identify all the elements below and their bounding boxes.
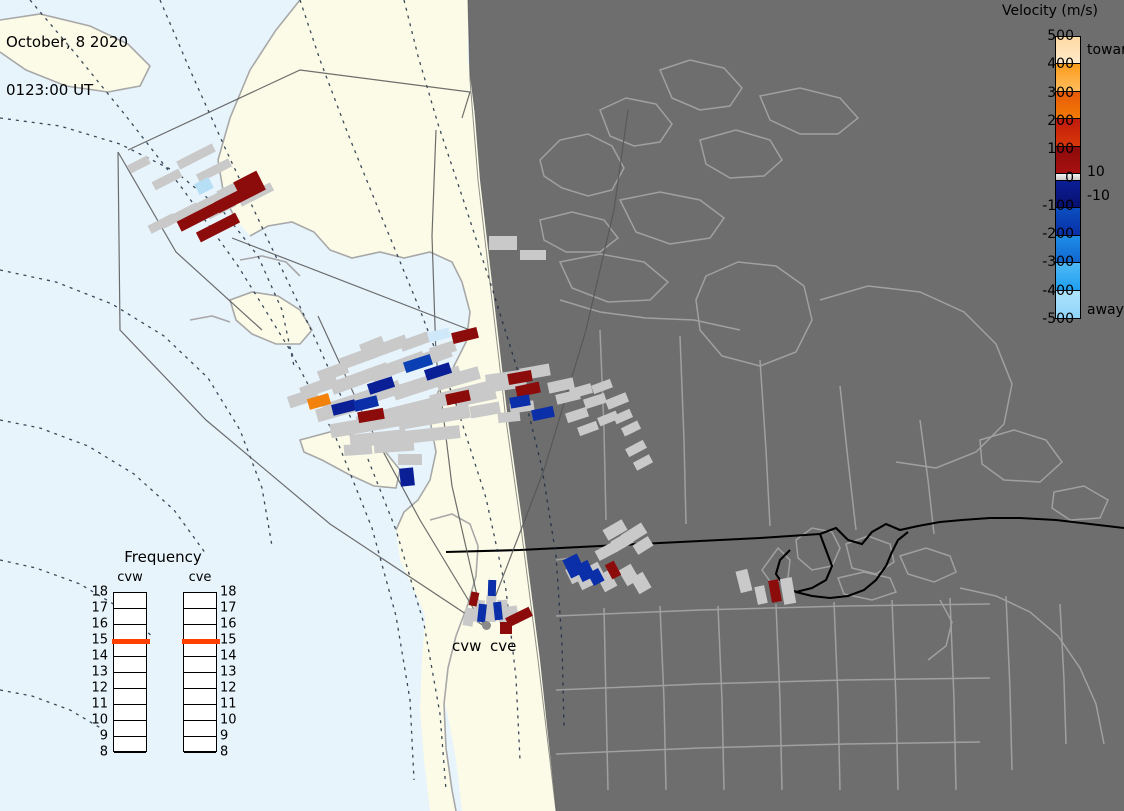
- frequency-scale-label: 10: [220, 713, 238, 728]
- colorbar-tick: 100: [1047, 141, 1074, 157]
- frequency-scale-label: 16: [90, 617, 108, 632]
- frequency-segment: [184, 657, 216, 673]
- ground-scatter-cell: [489, 236, 517, 250]
- frequency-segment: [184, 673, 216, 689]
- frequency-segment: [114, 657, 146, 673]
- colorbar-toward-label: toward: [1087, 42, 1124, 58]
- frequency-scale-label: 18: [90, 585, 108, 600]
- frequency-scale-label: 8: [220, 745, 238, 760]
- frequency-segment: [114, 609, 146, 625]
- colorbar-tick: -500: [1042, 311, 1074, 327]
- colorbar-inner-low-label: -10: [1087, 188, 1110, 204]
- frequency-segment: [184, 593, 216, 609]
- frequency-scale-label: 9: [220, 729, 238, 744]
- frequency-segment: [114, 737, 146, 753]
- frequency-marker: [112, 639, 150, 644]
- radar-map-canvas: October, 8 2020 0123:00 UT Velocity (m/s…: [0, 0, 1124, 811]
- frequency-segment: [114, 593, 146, 609]
- frequency-column-label-cvw: cvw: [110, 570, 150, 585]
- ground-scatter-cell: [520, 250, 546, 260]
- colorbar-tick: -300: [1042, 254, 1074, 270]
- frequency-scale-label: 15: [220, 633, 238, 648]
- frequency-scale-label: 15: [90, 633, 108, 648]
- ground-scatter-cell: [398, 454, 422, 465]
- frequency-scale-label: 17: [220, 601, 238, 616]
- frequency-segment: [184, 737, 216, 753]
- velocity-cell: [500, 622, 512, 634]
- frequency-scale-label: 9: [90, 729, 108, 744]
- frequency-legend: Frequency cvw cve 1818171716161515141413…: [88, 548, 238, 788]
- frequency-scale-label: 16: [220, 617, 238, 632]
- frequency-scale-label: 13: [220, 665, 238, 680]
- frequency-scale-label: 18: [220, 585, 238, 600]
- colorbar-tick: 0: [1065, 170, 1074, 186]
- radar-site-label-cve: cve: [490, 637, 516, 655]
- frequency-scale-label: 13: [90, 665, 108, 680]
- colorbar-tick: -400: [1042, 283, 1074, 299]
- frequency-scale-label: 8: [90, 745, 108, 760]
- frequency-scale-label: 17: [90, 601, 108, 616]
- frequency-segment: [184, 705, 216, 721]
- colorbar-tick: 200: [1047, 113, 1074, 129]
- ground-scatter-cell: [344, 443, 373, 456]
- frequency-scale-label: 14: [90, 649, 108, 664]
- colorbar-tick: 400: [1047, 56, 1074, 72]
- frequency-segment: [184, 609, 216, 625]
- timestamp-date: October, 8 2020: [6, 34, 128, 50]
- frequency-scale-label: 12: [90, 681, 108, 696]
- colorbar-tick: 500: [1047, 28, 1074, 44]
- frequency-segment: [184, 721, 216, 737]
- frequency-scale-label: 14: [220, 649, 238, 664]
- frequency-segment: [184, 689, 216, 705]
- colorbar-tick: -200: [1042, 226, 1074, 242]
- frequency-column-label-cve: cve: [180, 570, 220, 585]
- timestamp-block: October, 8 2020 0123:00 UT: [6, 2, 128, 130]
- timestamp-time: 0123:00 UT: [6, 82, 128, 98]
- velocity-colorbar: Velocity (m/s) 5004003002001000-100-200-…: [975, 0, 1124, 340]
- radar-site-label-cvw: cvw: [452, 637, 481, 655]
- frequency-scale-label: 11: [90, 697, 108, 712]
- colorbar-inner-high-label: 10: [1087, 164, 1105, 180]
- colorbar-title: Velocity (m/s): [981, 3, 1119, 19]
- colorbar-away-label: away: [1087, 302, 1124, 318]
- colorbar-tick: 300: [1047, 85, 1074, 101]
- frequency-scale-label: 11: [220, 697, 238, 712]
- frequency-marker: [182, 639, 220, 644]
- frequency-segment: [114, 673, 146, 689]
- frequency-segment: [114, 689, 146, 705]
- frequency-segment: [114, 721, 146, 737]
- frequency-segment: [114, 705, 146, 721]
- frequency-bar-cvw: [113, 592, 147, 752]
- frequency-bar-cve: [183, 592, 217, 752]
- frequency-legend-title: Frequency: [88, 548, 238, 566]
- colorbar-tick: -100: [1042, 198, 1074, 214]
- radar-site-dot: [482, 621, 491, 630]
- velocity-cell: [399, 467, 415, 486]
- velocity-cell: [488, 580, 497, 596]
- frequency-scale-label: 12: [220, 681, 238, 696]
- frequency-scale-label: 10: [90, 713, 108, 728]
